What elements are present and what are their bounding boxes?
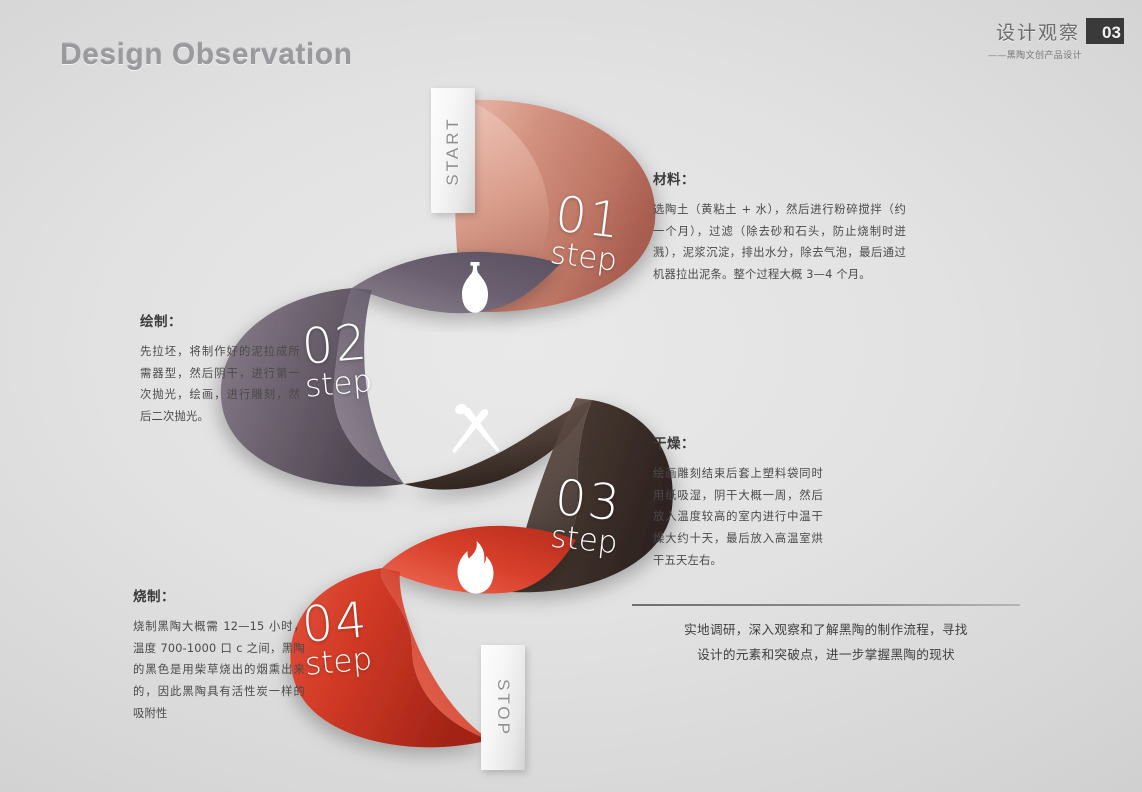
step-text-block-02: 绘制： 先拉坯，将制作好的泥拉成所需器型，然后阴干，进行第一次抛光，绘画，进行雕…: [140, 310, 300, 428]
start-tab: START: [431, 88, 475, 213]
step-body-02: 先拉坯，将制作好的泥拉成所需器型，然后阴干，进行第一次抛光，绘画，进行雕刻，然后…: [140, 341, 300, 428]
step-body-03: 绘画雕刻结束后套上塑料袋同时用纸吸湿，阴干大概一周，然后放入温度较高的室内进行中…: [653, 463, 823, 571]
step-text-block-04: 烧制： 烧制黑陶大概需 12—15 小时，温度 700-1000 口 c 之间，…: [133, 585, 305, 724]
step-text-block-03: 干燥： 绘画雕刻结束后套上塑料袋同时用纸吸湿，阴干大概一周，然后放入温度较高的室…: [653, 432, 823, 571]
step-text-block-01: 材料： 选陶土（黄粘土 + 水），然后进行粉碎搅拌（约一个月），过滤（除去砂和石…: [653, 168, 906, 286]
step-body-04: 烧制黑陶大概需 12—15 小时，温度 700-1000 口 c 之间，黑陶的黑…: [133, 616, 305, 724]
start-label: START: [443, 116, 463, 185]
step-body-01: 选陶土（黄粘土 + 水），然后进行粉碎搅拌（约一个月），过滤（除去砂和石头，防止…: [653, 199, 906, 286]
summary-caption: 实地调研，深入观察和了解黑陶的制作流程，寻找 设计的元素和突破点，进一步掌握黑陶…: [632, 604, 1020, 667]
step-heading-01: 材料：: [653, 168, 906, 188]
step-heading-04: 烧制：: [133, 585, 305, 605]
ribbon-segment-04: [290, 568, 490, 747]
stop-label: STOP: [493, 679, 513, 737]
step-heading-03: 干燥：: [653, 432, 823, 452]
caption-line-2: 设计的元素和突破点，进一步掌握黑陶的现状: [632, 643, 1020, 668]
caption-divider: [632, 604, 1020, 606]
caption-line-1: 实地调研，深入观察和了解黑陶的制作流程，寻找: [632, 618, 1020, 643]
step-heading-02: 绘制：: [140, 310, 300, 330]
stop-tab: STOP: [481, 645, 525, 770]
